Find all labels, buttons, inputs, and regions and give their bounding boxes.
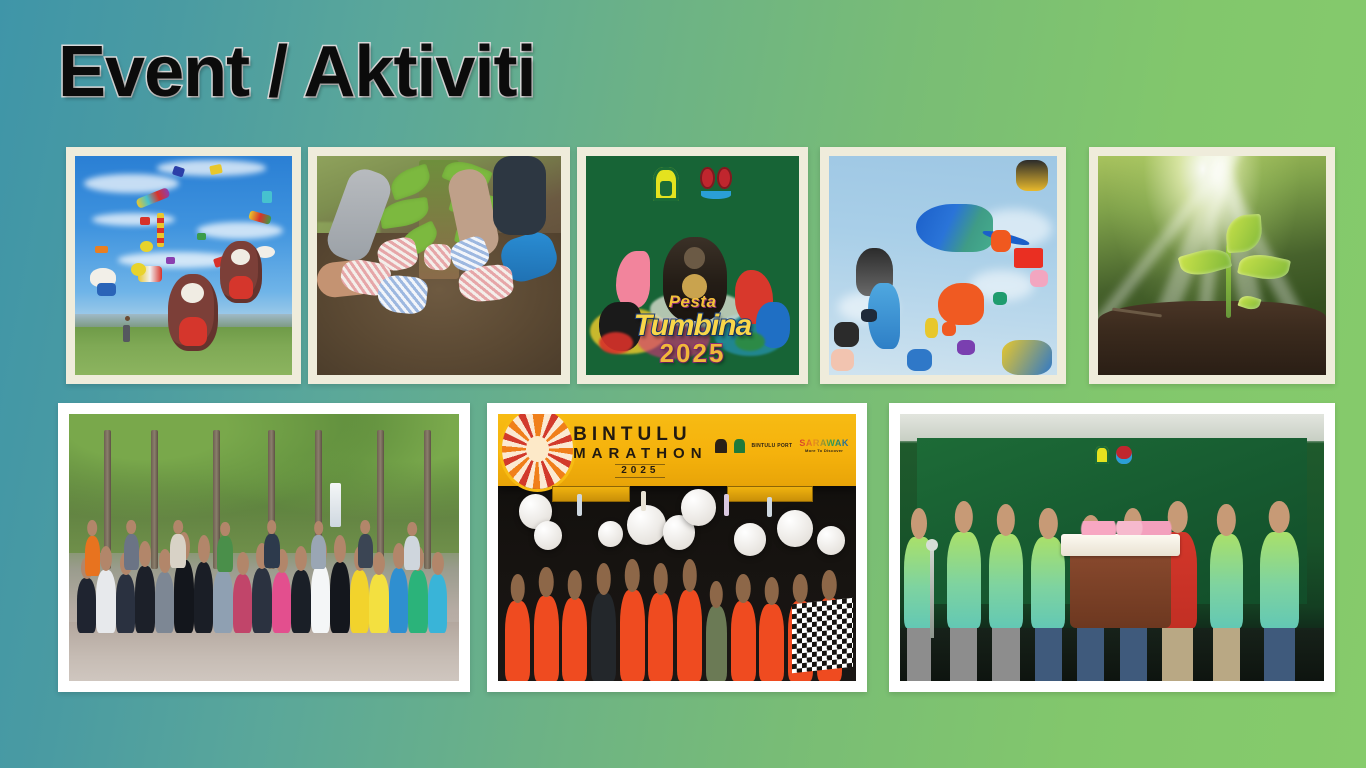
marathon-sponsor-logos: BINTULU PORT SARAWAK More To Discover bbox=[715, 438, 849, 453]
sponsor-council-icon bbox=[734, 439, 745, 453]
photo-frame-tree-planting[interactable] bbox=[308, 147, 570, 384]
photo-frame-cake-cutting[interactable] bbox=[889, 403, 1335, 692]
slide-canvas: Event / Aktiviti bbox=[0, 0, 1366, 768]
marathon-line-2: MARATHON bbox=[573, 446, 707, 461]
poster-line-2: Tumbina bbox=[586, 312, 799, 341]
photo-kites-sky bbox=[829, 156, 1057, 375]
council-globe-icon bbox=[700, 167, 732, 203]
marathon-sunburst-icon bbox=[502, 414, 574, 489]
page-title: Event / Aktiviti bbox=[58, 36, 535, 108]
sponsor-bintulu-port-label: BINTULU PORT bbox=[752, 443, 793, 449]
ceremony-backdrop-logos bbox=[1095, 446, 1132, 464]
poster-logo-row bbox=[586, 167, 799, 203]
poster-year: 2025 bbox=[586, 340, 799, 366]
checkered-flag bbox=[792, 598, 853, 674]
sponsor-sarawak-label: SARAWAK bbox=[799, 438, 849, 448]
sponsor-crest-icon bbox=[715, 439, 727, 453]
marathon-title-block: BINTULU MARATHON 2025 bbox=[573, 425, 707, 478]
council-globe-icon bbox=[1116, 446, 1132, 464]
poster-title-block: Pesta Tumbina 2025 bbox=[586, 292, 799, 367]
photo-pesta-tumbina-poster: Pesta Tumbina 2025 bbox=[586, 156, 799, 375]
marathon-line-1: BINTULU bbox=[573, 425, 707, 444]
photo-frame-seedling[interactable] bbox=[1089, 147, 1335, 384]
photo-tree-planting bbox=[317, 156, 561, 375]
ceremonial-cake bbox=[1061, 534, 1180, 555]
stanchion-post bbox=[930, 548, 934, 639]
state-crest-icon bbox=[1095, 446, 1109, 464]
photo-frame-kite-festival[interactable] bbox=[66, 147, 301, 384]
photo-cake-cutting bbox=[900, 414, 1324, 681]
sponsor-tagline: More To Discover bbox=[799, 448, 849, 453]
photo-frame-bintulu-marathon[interactable]: BINTULU MARATHON 2025 BINTULU PORT SARAW… bbox=[487, 403, 867, 692]
photo-frame-kites-sky[interactable] bbox=[820, 147, 1066, 384]
photo-bintulu-marathon: BINTULU MARATHON 2025 BINTULU PORT SARAW… bbox=[498, 414, 856, 681]
marathon-year: 2025 bbox=[615, 464, 665, 478]
photo-frame-pesta-tumbina-poster[interactable]: Pesta Tumbina 2025 bbox=[577, 147, 808, 384]
state-crest-icon bbox=[653, 167, 679, 201]
photo-community-group bbox=[69, 414, 459, 681]
photo-kite-festival bbox=[75, 156, 292, 375]
photo-seedling bbox=[1098, 156, 1326, 375]
photo-frame-community-group[interactable] bbox=[58, 403, 470, 692]
